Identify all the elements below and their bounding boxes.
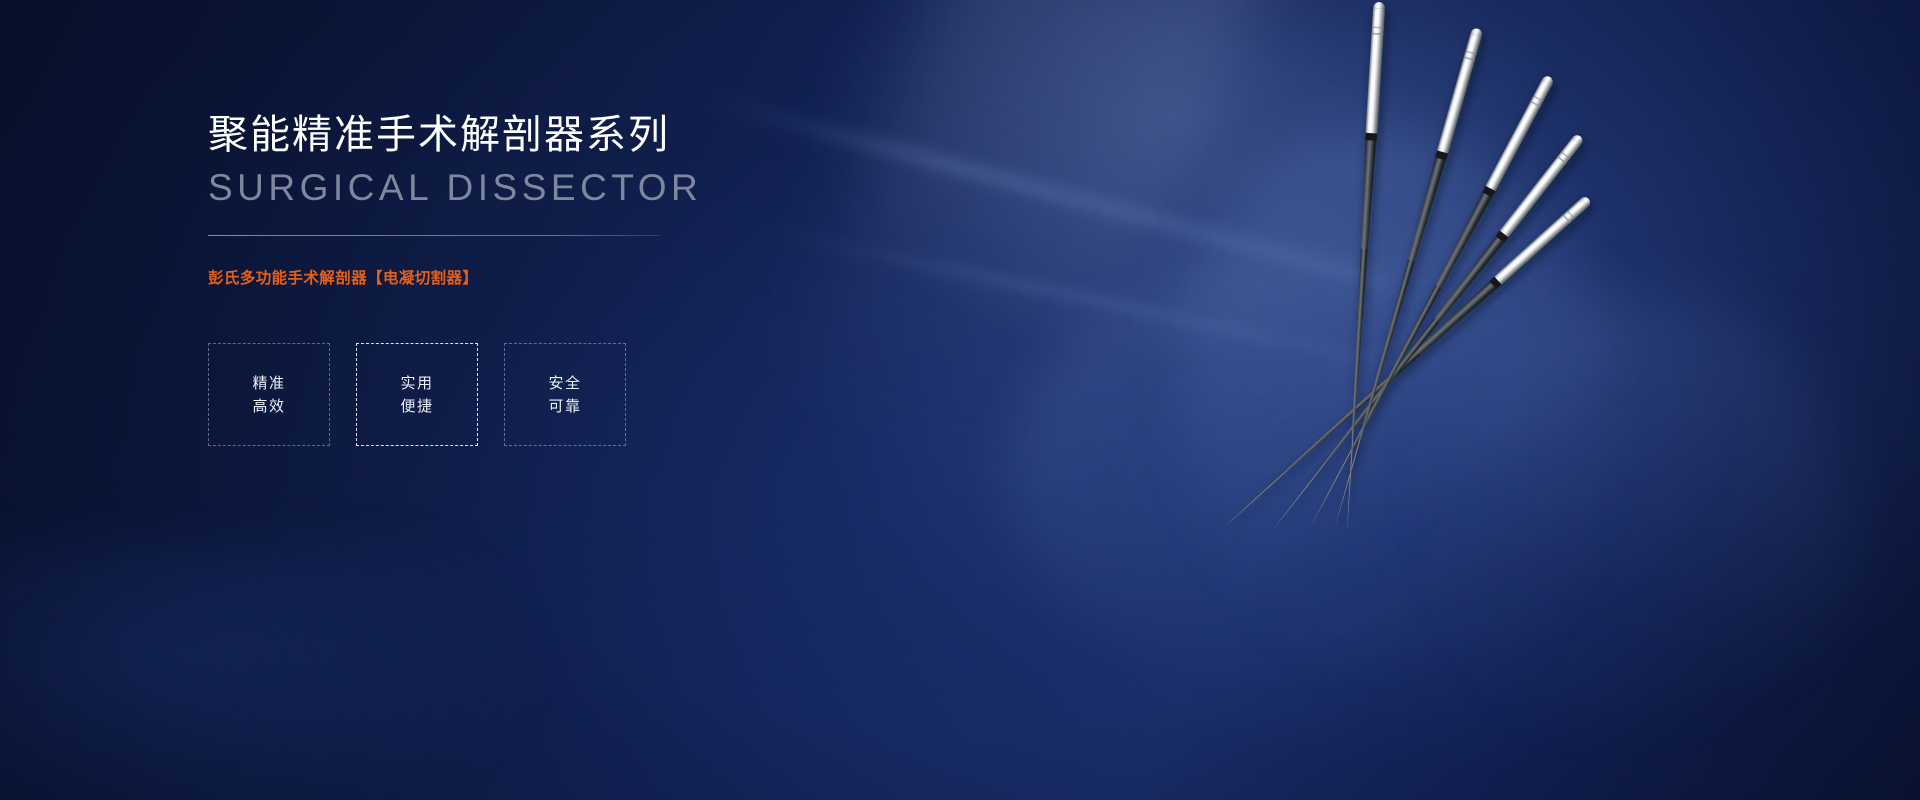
feature-badge-line1: 精准: [252, 376, 285, 391]
page-subtitle-english: SURGICAL DISSECTOR: [208, 166, 928, 210]
feature-badge-precise: 精准 高效: [208, 343, 330, 446]
instrument-3: [1305, 74, 1555, 530]
feature-badge-safe: 安全 可靠: [504, 343, 626, 446]
hero-text-block: 聚能精准手术解剖器系列 SURGICAL DISSECTOR 彭氏多功能手术解剖…: [208, 110, 928, 446]
instrument-5: [1341, 2, 1385, 533]
feature-badge-line1: 安全: [548, 376, 581, 391]
product-name-label: 彭氏多功能手术解剖器【电凝切割器】: [208, 266, 928, 288]
feature-badge-line2: 便捷: [400, 399, 433, 414]
feature-badge-line1: 实用: [400, 376, 433, 391]
feature-badge-line2: 可靠: [548, 399, 581, 414]
feature-badge-line2: 高效: [252, 399, 285, 414]
product-hero-banner: 聚能精准手术解剖器系列 SURGICAL DISSECTOR 彭氏多功能手术解剖…: [0, 0, 1920, 800]
divider: [208, 235, 660, 236]
feature-badge-practical: 实用 便捷: [356, 343, 478, 446]
page-title: 聚能精准手术解剖器系列: [208, 110, 928, 160]
feature-badges: 精准 高效 实用 便捷 安全 可靠: [208, 343, 928, 446]
